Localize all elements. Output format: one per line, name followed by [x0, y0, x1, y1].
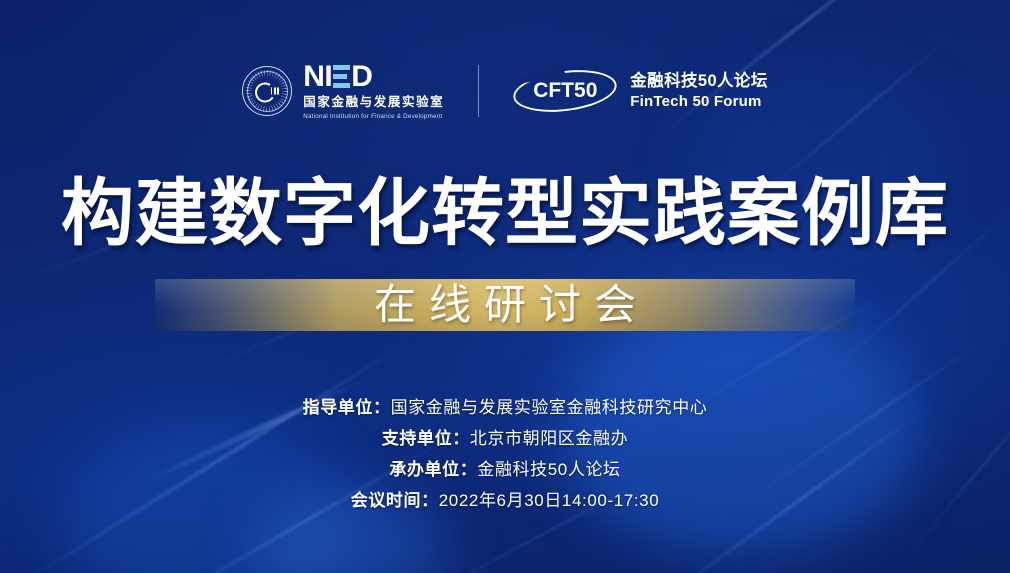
cft50-badge-label: CFT50 — [513, 79, 617, 103]
info-value: 北京市朝阳区金融办 — [470, 429, 628, 448]
info-label: 承办单位： — [389, 460, 477, 479]
event-info-list: 指导单位：国家金融与发展实验室金融科技研究中心 支持单位：北京市朝阳区金融办 承… — [0, 392, 1010, 516]
info-row-host: 承办单位：金融科技50人论坛 — [0, 454, 1010, 485]
logo-bar: NI D 国家金融与发展实验室 National Institution for… — [0, 62, 1010, 121]
cft50-name-cn: 金融科技50人论坛 — [630, 72, 767, 90]
info-value: 国家金融与发展实验室金融科技研究中心 — [391, 398, 708, 417]
logo-divider — [478, 65, 479, 117]
nifd-letters-suffix: D — [351, 62, 372, 92]
info-row-supporter: 支持单位：北京市朝阳区金融办 — [0, 423, 1010, 454]
cft50-logo: CFT50 金融科技50人论坛 FinTech 50 Forum — [513, 71, 767, 111]
cft50-name-en: FinTech 50 Forum — [630, 94, 767, 111]
nifd-f-glyph-icon — [333, 63, 350, 92]
cft50-wordmark: 金融科技50人论坛 FinTech 50 Forum — [630, 72, 767, 110]
nifd-letters: NI D — [303, 62, 444, 92]
nifd-letters-prefix: NI — [303, 62, 332, 92]
info-value: 2022年6月30日14:00-17:30 — [439, 491, 660, 510]
nifd-name-en: National Institution for Finance & Devel… — [303, 114, 444, 121]
info-label: 会议时间： — [351, 491, 439, 510]
nifd-name-cn: 国家金融与发展实验室 — [303, 96, 444, 110]
page-subtitle: 在线研讨会 — [0, 281, 1010, 329]
nifd-logo: NI D 国家金融与发展实验室 National Institution for… — [242, 62, 444, 121]
info-value: 金融科技50人论坛 — [477, 460, 620, 479]
event-poster: NI D 国家金融与发展实验室 National Institution for… — [0, 0, 1010, 573]
info-label: 支持单位： — [382, 429, 470, 448]
info-row-organizer-guide: 指导单位：国家金融与发展实验室金融科技研究中心 — [0, 392, 1010, 423]
nifd-seal-icon — [242, 66, 292, 116]
cft50-badge-icon: CFT50 — [513, 71, 617, 111]
page-title: 构建数字化转型实践案例库 — [0, 177, 1010, 250]
info-row-datetime: 会议时间：2022年6月30日14:00-17:30 — [0, 485, 1010, 516]
nifd-wordmark: NI D 国家金融与发展实验室 National Institution for… — [303, 62, 444, 121]
info-label: 指导单位： — [303, 398, 391, 417]
